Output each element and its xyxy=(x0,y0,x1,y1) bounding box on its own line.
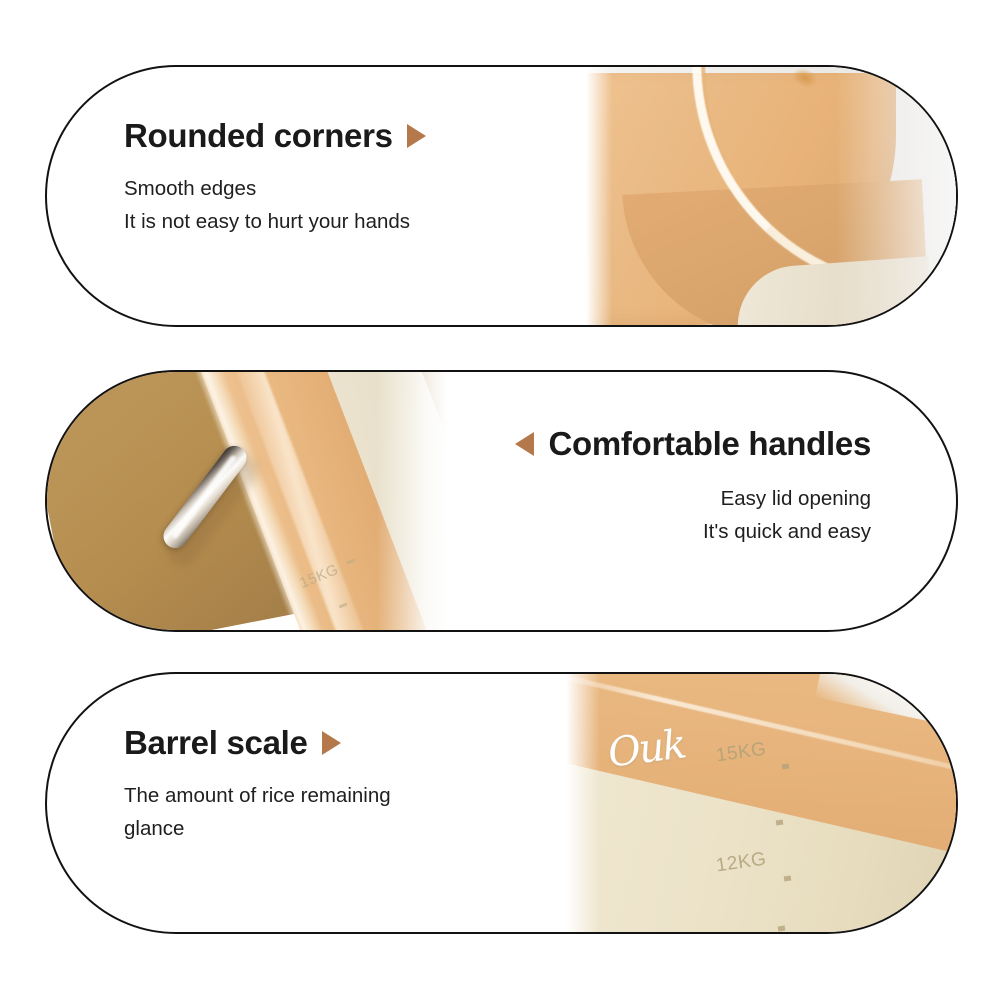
panel-1-text-block: Rounded corners Smooth edges It is not e… xyxy=(124,119,426,236)
page-title-comfortable-handles: Comfortable handles xyxy=(548,427,871,462)
photo-left-feather xyxy=(586,67,612,325)
panel-2-sublines: Easy lid opening It's quick and easy xyxy=(515,484,871,546)
panel-3-sublines: The amount of rice remaining glance xyxy=(124,781,391,843)
panel-2-text-block: Comfortable handles Easy lid opening It'… xyxy=(515,427,871,546)
panel-1-subline-1: Smooth edges xyxy=(124,174,426,203)
panel-1-subline-2: It is not easy to hurt your hands xyxy=(124,207,426,236)
feature-panel-rounded-corners: Rounded corners Smooth edges It is not e… xyxy=(45,65,958,327)
product-photo-barrel-scale: Ouk 15KG 12KG xyxy=(566,674,956,932)
panel-1-heading-row: Rounded corners xyxy=(124,119,426,154)
panel-2-subline-2: It's quick and easy xyxy=(515,517,871,546)
product-photo-lid-handle: 15KG xyxy=(47,372,447,630)
panel-3-subline-1: The amount of rice remaining xyxy=(124,781,391,810)
page-title-rounded-corners: Rounded corners xyxy=(124,119,393,154)
brand-script-logo: Ouk xyxy=(605,721,687,776)
page-title-barrel-scale: Barrel scale xyxy=(124,726,308,761)
arrow-right-icon xyxy=(407,124,426,148)
scale-tick-mark xyxy=(776,820,784,826)
product-photo-rounded-corner xyxy=(586,67,956,325)
arrow-left-icon xyxy=(515,432,534,456)
feature-panel-comfortable-handles: 15KG Comfortable handles Easy lid openin… xyxy=(45,370,958,632)
panel-1-sublines: Smooth edges It is not easy to hurt your… xyxy=(124,174,426,236)
panel-2-subline-1: Easy lid opening xyxy=(515,484,871,513)
scale-tick-mark xyxy=(784,876,792,882)
panel-2-heading-row: Comfortable handles xyxy=(515,427,871,462)
photo-left-feather xyxy=(566,674,600,932)
arrow-right-icon xyxy=(322,731,341,755)
scale-tick-mark xyxy=(782,764,790,770)
feature-panel-barrel-scale: Ouk 15KG 12KG Barrel scale The amount of… xyxy=(45,672,958,934)
panel-3-heading-row: Barrel scale xyxy=(124,726,391,761)
scale-tick-mark xyxy=(778,926,786,932)
panel-3-text-block: Barrel scale The amount of rice remainin… xyxy=(124,726,391,843)
photo-right-feather xyxy=(377,372,447,630)
panel-3-subline-2: glance xyxy=(124,814,391,843)
photo-right-vignette xyxy=(836,67,956,325)
product-feature-page: Rounded corners Smooth edges It is not e… xyxy=(0,0,1000,1000)
